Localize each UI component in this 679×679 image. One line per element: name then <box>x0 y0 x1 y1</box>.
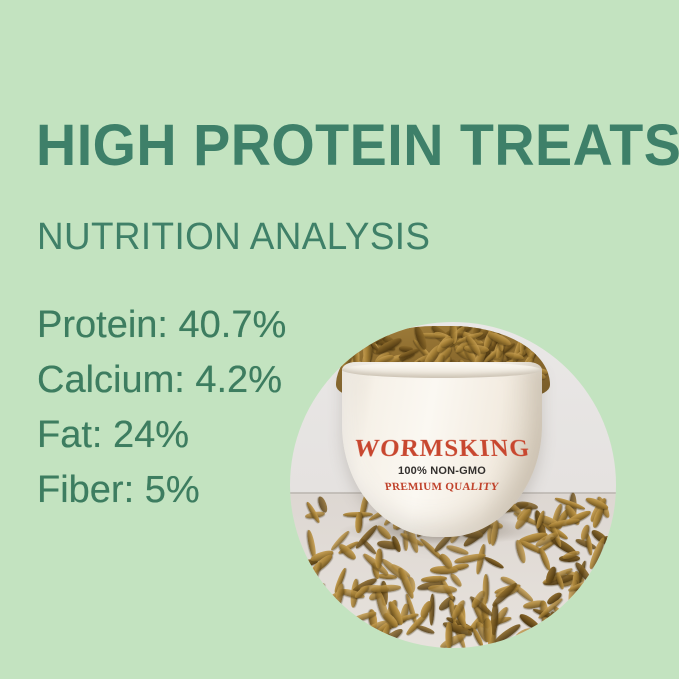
page-title: HIGH PROTEIN TREATS <box>36 117 679 175</box>
larva <box>490 581 519 609</box>
larva <box>416 624 435 635</box>
larva <box>445 621 452 648</box>
bowl-rim <box>342 362 542 378</box>
list-item: Fiber: 5% <box>37 463 357 518</box>
larva <box>391 535 403 553</box>
brand-tagline: 100% NON-GMO <box>342 466 542 477</box>
brand-quality-line: PREMIUM QUALITY <box>340 482 543 493</box>
bowl-brand-label: WORMSKING 100% NON-GMO PREMIUM QUALITY <box>342 436 542 493</box>
list-item: Fat: 24% <box>37 408 357 463</box>
brand-name: WORMSKING <box>340 437 544 461</box>
larva <box>530 326 550 337</box>
larva <box>517 638 541 648</box>
list-item: Protein: 40.7% <box>37 298 357 353</box>
larva <box>484 618 493 642</box>
larva <box>375 524 393 542</box>
larva <box>572 619 602 633</box>
larva <box>430 566 458 574</box>
larva <box>484 555 505 570</box>
larva <box>482 574 488 604</box>
product-infographic: HIGH PROTEIN TREATS NUTRITION ANALYSIS P… <box>0 0 679 679</box>
list-item: Calcium: 4.2% <box>37 353 357 408</box>
nutrition-analysis-list: Protein: 40.7% Calcium: 4.2% Fat: 24% Fi… <box>37 298 357 518</box>
larva <box>292 584 313 595</box>
larva <box>588 590 613 598</box>
page-subtitle: NUTRITION ANALYSIS <box>37 218 430 256</box>
